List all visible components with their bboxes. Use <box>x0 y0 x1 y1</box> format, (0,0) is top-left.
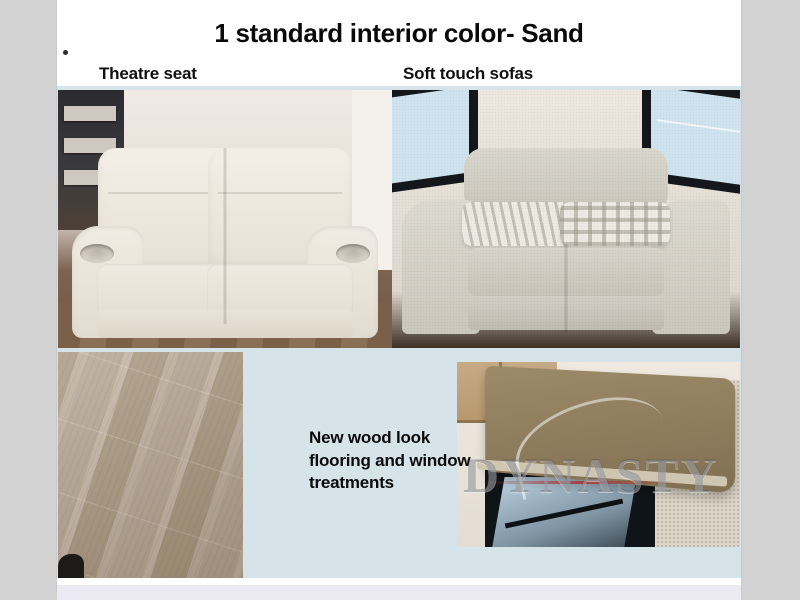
shelf <box>64 106 116 121</box>
floor-shading <box>58 352 243 578</box>
sofa-cushion-right <box>540 248 664 296</box>
label-theatre-seat: Theatre seat <box>99 64 197 84</box>
caption-line-1: New wood look <box>309 427 509 450</box>
sofa-center-seam <box>565 244 568 332</box>
theatre-seat-photo <box>58 90 392 348</box>
seat-base-right <box>207 310 353 338</box>
red-accent-line <box>481 481 681 484</box>
caption-line-2: flooring and window <box>309 450 509 473</box>
throw-pillow-right <box>560 202 670 246</box>
cup-holder-icon <box>336 244 370 263</box>
floor-corner-shadow <box>58 554 84 578</box>
page-title: 1 standard interior color- Sand <box>57 18 741 49</box>
caption-line-3: treatments <box>309 472 509 495</box>
flooring-photo <box>58 352 243 578</box>
presentation-slide: 1 standard interior color- Sand Theatre … <box>57 0 741 592</box>
label-soft-touch-sofas: Soft touch sofas <box>403 64 533 84</box>
caption-wood-look-flooring: New wood look flooring and window treatm… <box>309 427 509 495</box>
bullet-dot-icon <box>63 50 68 55</box>
seat-center-seam <box>224 148 227 324</box>
cup-holder-icon <box>80 244 114 263</box>
sofa-base-right <box>540 296 664 330</box>
slide-viewer: 1 standard interior color- Sand Theatre … <box>0 0 800 600</box>
sofa-body <box>402 148 730 344</box>
theatre-recliner <box>72 148 378 338</box>
slide-bottom-strip <box>57 585 741 600</box>
throw-pillow-left <box>462 202 572 246</box>
soft-touch-sofa-photo <box>392 90 740 348</box>
